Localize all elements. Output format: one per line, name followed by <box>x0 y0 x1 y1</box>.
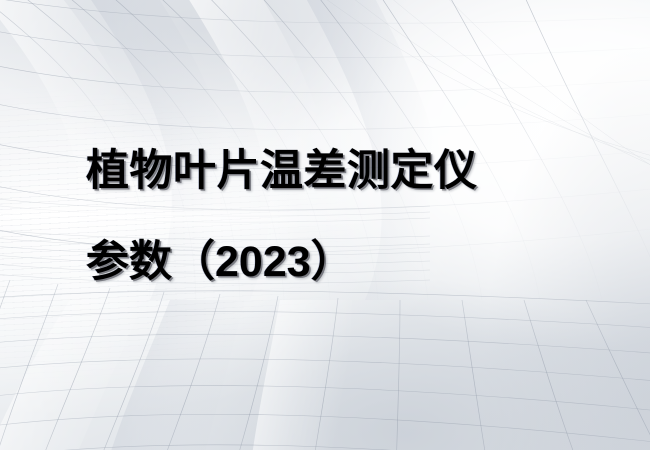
slide-title-line-2: 参数（2023） <box>86 217 556 308</box>
slide-title-block: 植物叶片温差测定仪 参数（2023） <box>86 126 556 308</box>
slide-title-line-1: 植物叶片温差测定仪 <box>86 126 556 217</box>
title-slide: 植物叶片温差测定仪 参数（2023） <box>0 0 650 450</box>
